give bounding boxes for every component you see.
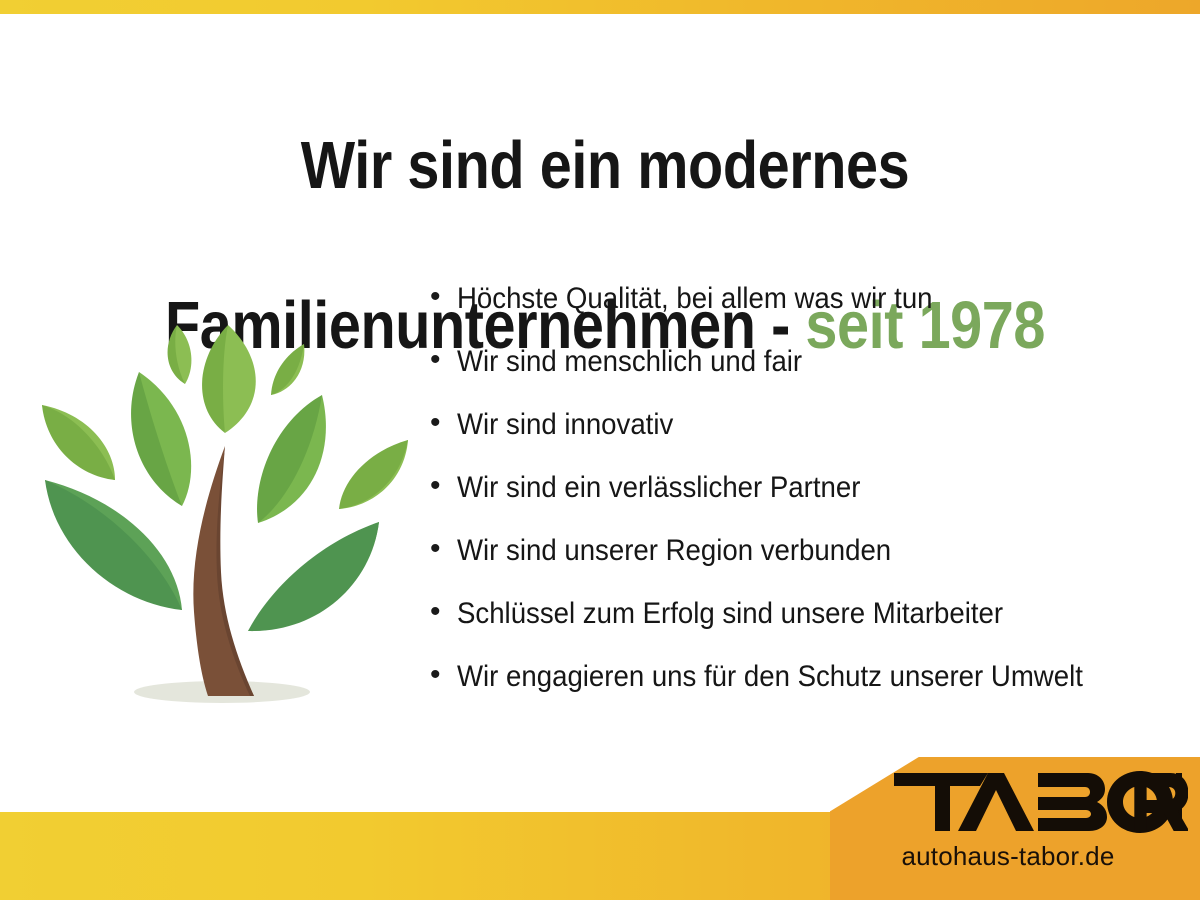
- leaf-lower-right: [248, 522, 379, 631]
- list-item: • Wir sind ein verlässlicher Partner: [430, 473, 1190, 536]
- tree-illustration: [22, 300, 422, 720]
- values-list: • Höchste Qualität, bei allem was wir tu…: [430, 284, 1190, 725]
- leaf-upper-left: [131, 372, 191, 506]
- list-item: • Höchste Qualität, bei allem was wir tu…: [430, 284, 1190, 347]
- list-item: • Schlüssel zum Erfolg sind unsere Mitar…: [430, 599, 1190, 662]
- leaf-mid-far-left: [42, 405, 115, 480]
- headline-line-1: Wir sind ein modernes: [136, 126, 1073, 206]
- leaf-mid-far-right: [339, 440, 408, 509]
- bullet-icon: •: [430, 471, 457, 501]
- list-item: • Wir sind innovativ: [430, 410, 1190, 473]
- list-item-label: Wir sind unserer Region verbunden: [457, 536, 1131, 566]
- slide-canvas: Wir sind ein modernes Familienunternehme…: [0, 0, 1200, 900]
- bullet-icon: •: [430, 282, 457, 312]
- list-item-label: Wir sind menschlich und fair: [457, 347, 1131, 377]
- top-gradient-bar: [0, 0, 1200, 14]
- list-item: • Wir sind unserer Region verbunden: [430, 536, 1190, 599]
- brand-logo-panel[interactable]: autohaus-tabor.de: [830, 757, 1200, 900]
- list-item-label: Wir sind innovativ: [457, 410, 1131, 440]
- bullet-icon: •: [430, 345, 457, 375]
- tabor-wordmark-icon: [892, 771, 1188, 833]
- leaf-top-left-small: [168, 325, 192, 384]
- list-item-label: Schlüssel zum Erfolg sind unsere Mitarbe…: [457, 599, 1131, 629]
- leaf-top-center: [202, 325, 256, 433]
- bullet-icon: •: [430, 408, 457, 438]
- bullet-icon: •: [430, 534, 457, 564]
- bullet-icon: •: [430, 660, 457, 690]
- leaf-lower-left: [45, 480, 182, 610]
- website-url[interactable]: autohaus-tabor.de: [830, 843, 1186, 869]
- bullet-icon: •: [430, 597, 457, 627]
- list-item: • Wir engagieren uns für den Schutz unse…: [430, 662, 1190, 725]
- tree-trunk: [193, 446, 254, 696]
- list-item-label: Höchste Qualität, bei allem was wir tun: [457, 284, 1131, 314]
- list-item-label: Wir engagieren uns für den Schutz unsere…: [457, 662, 1131, 692]
- leaf-top-right-small: [271, 344, 304, 395]
- list-item: • Wir sind menschlich und fair: [430, 347, 1190, 410]
- list-item-label: Wir sind ein verlässlicher Partner: [457, 473, 1131, 503]
- leaf-upper-right: [257, 395, 326, 523]
